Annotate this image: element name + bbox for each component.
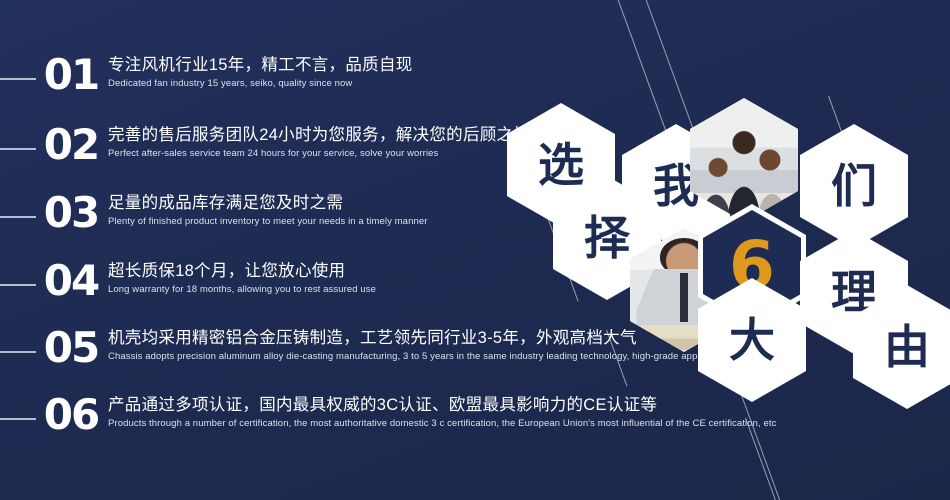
necktie-detail — [680, 273, 689, 323]
hexagon-label: 大 — [729, 317, 775, 363]
hexagon-label: 由 — [884, 324, 930, 370]
hexagon-label: 择 — [584, 215, 630, 261]
headline-hexagon-cluster: 选 我 们 择 6 理 — [0, 0, 950, 500]
hexagon-label: 们 — [831, 163, 877, 209]
hexagon-label: 选 — [538, 142, 584, 188]
poster-canvas: 01 专注风机行业15年，精工不言，品质自现 Dedicated fan ind… — [0, 0, 950, 500]
hexagon-men[interactable]: 们 — [800, 124, 908, 248]
